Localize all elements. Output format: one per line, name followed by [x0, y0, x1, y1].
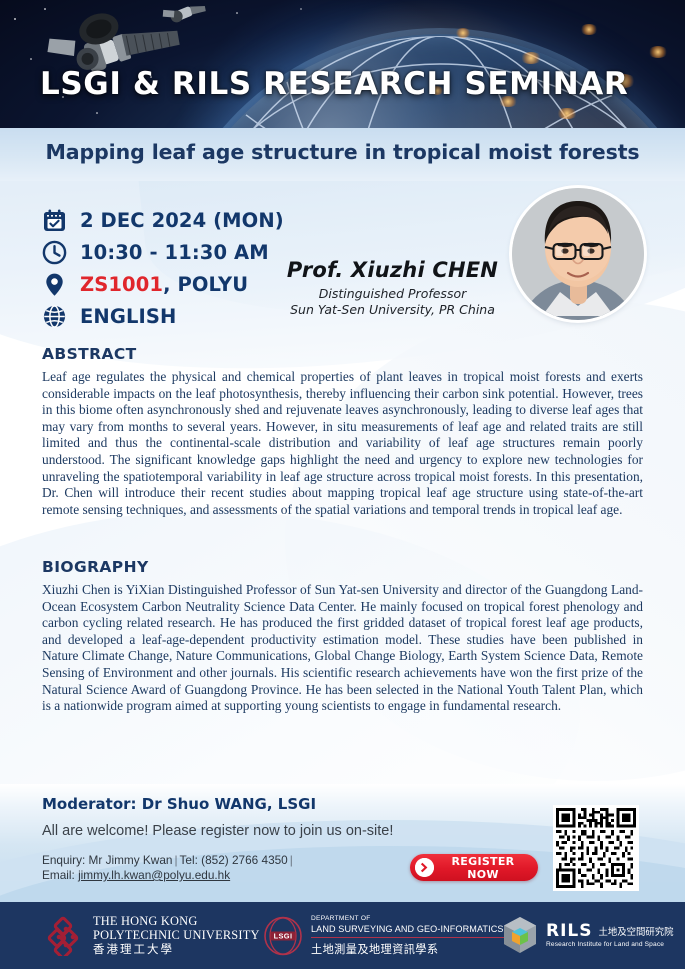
rils-logo-text: RILS 土地及空間研究院 Research Institute for Lan…: [546, 922, 674, 948]
lsgi-line-1: DEPARTMENT OF: [311, 914, 504, 923]
polyu-logo-text: THE HONG KONG POLYTECHNIC UNIVERSITY 香港理…: [93, 915, 260, 956]
registration-qr-code[interactable]: [553, 805, 639, 891]
detail-row-date: 2 DEC 2024 (MON): [42, 206, 332, 235]
email-label: Email:: [42, 868, 75, 882]
biography-section: BIOGRAPHY Xiuzhi Chen is YiXian Distingu…: [42, 558, 643, 715]
lsgi-logo: LSGI DEPARTMENT OF LAND SURVEYING AND GE…: [263, 914, 504, 957]
speaker-name: Prof. Xiuzhi CHEN: [275, 258, 510, 282]
globe-icon: [42, 304, 67, 329]
abstract-text: Leaf age regulates the physical and chem…: [42, 369, 643, 518]
enquiry-line-2: Email: jimmy.lh.kwan@polyu.edu.hk: [42, 868, 295, 883]
svg-text:LSGI: LSGI: [274, 931, 293, 940]
speaker-affiliation: Sun Yat-Sen University, PR China: [275, 302, 510, 317]
polyu-line-2: POLYTECHNIC UNIVERSITY: [93, 929, 260, 943]
biography-text: Xiuzhi Chen is YiXian Distinguished Prof…: [42, 582, 643, 715]
city-light: [580, 24, 598, 35]
welcome-line: All are welcome! Please register now to …: [42, 823, 393, 839]
event-venue: ZS1001, POLYU: [80, 273, 248, 296]
title-band: Mapping leaf age structure in tropical m…: [0, 128, 685, 181]
event-time: 10:30 - 11:30 AM: [80, 241, 269, 264]
location-pin-icon: [42, 272, 67, 297]
satellite-small-icon: [160, 0, 210, 28]
rils-name: RILS: [546, 922, 593, 940]
city-light: [455, 28, 471, 38]
event-language: ENGLISH: [80, 305, 176, 328]
speaker-title: Distinguished Professor: [275, 286, 510, 301]
venue-room: ZS1001: [80, 273, 163, 296]
rils-cube-icon: [500, 915, 540, 955]
abstract-section: ABSTRACT Leaf age regulates the physical…: [42, 345, 643, 518]
lsgi-oval-icon: LSGI: [263, 916, 303, 956]
speaker-info: Prof. Xiuzhi CHEN Distinguished Professo…: [275, 258, 510, 317]
polyu-knot-icon: [46, 916, 86, 956]
enquiry-tel: Tel: (852) 2766 4350: [180, 853, 288, 867]
enquiry-separator-1: |: [172, 853, 179, 867]
lsgi-logo-text: DEPARTMENT OF LAND SURVEYING AND GEO-INF…: [311, 914, 504, 957]
rils-logo: RILS 土地及空間研究院 Research Institute for Lan…: [500, 915, 674, 955]
register-now-label: REGISTER NOW: [434, 855, 538, 881]
enquiry-contact: Enquiry: Mr Jimmy Kwan: [42, 853, 172, 867]
venue-campus: , POLYU: [163, 273, 248, 296]
register-now-button[interactable]: REGISTER NOW: [410, 854, 538, 881]
abstract-heading: ABSTRACT: [42, 345, 643, 363]
city-light: [648, 46, 668, 58]
lsgi-chinese: 土地測量及地理資訊學系: [311, 941, 504, 957]
moderator-line: Moderator: Dr Shuo WANG, LSGI: [42, 795, 316, 813]
polyu-logo: THE HONG KONG POLYTECHNIC UNIVERSITY 香港理…: [46, 915, 260, 956]
seminar-title: Mapping leaf age structure in tropical m…: [0, 140, 685, 164]
chevron-right-icon: [415, 858, 434, 877]
city-light: [556, 108, 578, 119]
city-light: [520, 52, 542, 64]
polyu-line-1: THE HONG KONG: [93, 915, 260, 929]
institution-logo-bar: THE HONG KONG POLYTECHNIC UNIVERSITY 香港理…: [0, 902, 685, 969]
clock-icon: [42, 240, 67, 265]
seminar-poster: LSGI & RILS RESEARCH SEMINAR Mapping lea…: [0, 0, 685, 969]
enquiry-block: Enquiry: Mr Jimmy Kwan|Tel: (852) 2766 4…: [42, 853, 295, 883]
event-date: 2 DEC 2024 (MON): [80, 209, 284, 232]
lsgi-line-2: LAND SURVEYING AND GEO-INFORMATICS: [311, 923, 504, 938]
polyu-chinese: 香港理工大學: [93, 942, 260, 956]
speaker-portrait: [512, 188, 644, 320]
calendar-icon: [42, 208, 67, 233]
enquiry-line-1: Enquiry: Mr Jimmy Kwan|Tel: (852) 2766 4…: [42, 853, 295, 868]
rils-chinese: 土地及空間研究院: [599, 924, 674, 940]
email-link[interactable]: jimmy.lh.kwan@polyu.edu.hk: [78, 868, 230, 882]
enquiry-separator-2: |: [288, 853, 295, 867]
biography-heading: BIOGRAPHY: [42, 558, 643, 576]
header-banner: LSGI & RILS RESEARCH SEMINAR: [0, 0, 685, 128]
seminar-series-title: LSGI & RILS RESEARCH SEMINAR: [40, 66, 628, 102]
rils-subtitle: Research Institute for Land and Space: [546, 941, 674, 948]
